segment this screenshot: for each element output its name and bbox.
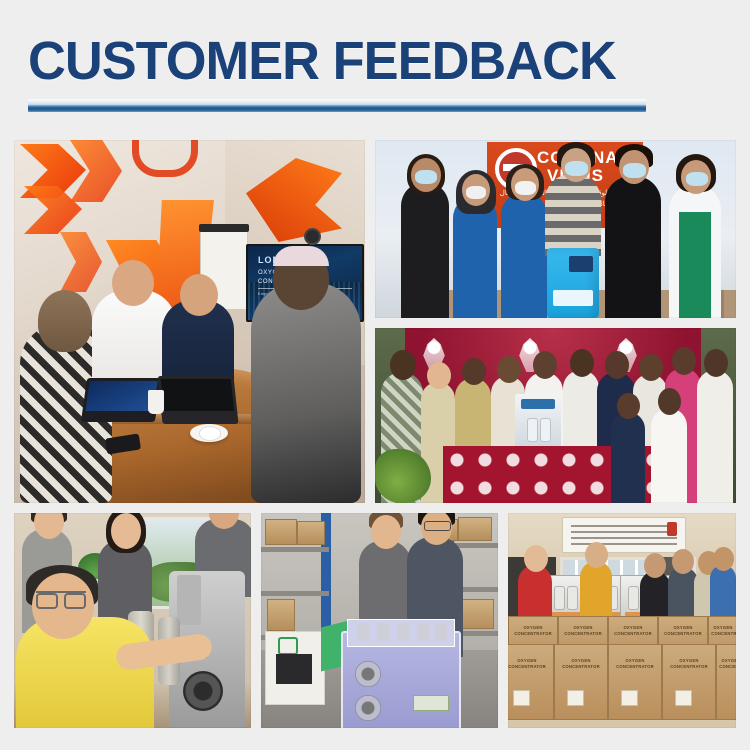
carton: OXYGENCONCENTRATOR — [716, 644, 736, 720]
person-head — [180, 274, 218, 316]
person-head — [462, 358, 486, 385]
person-head — [605, 351, 629, 379]
device-display — [569, 256, 593, 272]
person-head — [533, 351, 557, 379]
notice-text-line — [571, 531, 677, 533]
person-head — [672, 347, 696, 375]
person-head — [112, 260, 154, 306]
person-head — [672, 549, 694, 574]
person-head — [34, 513, 64, 539]
person-head — [111, 513, 141, 549]
coffee-cup-and-saucer — [190, 424, 228, 442]
carton-label: OXYGENCONCENTRATOR — [663, 625, 703, 637]
shipping-label — [567, 690, 584, 705]
cup-rim — [199, 426, 221, 441]
person-head — [497, 356, 521, 383]
device-panel — [177, 575, 201, 625]
shipping-label — [675, 690, 692, 705]
conference-camera-icon — [306, 230, 319, 243]
notice-text-line — [571, 537, 677, 539]
photo-tile-oxygen-concentrator-boxes[interactable]: OXYGENCONCENTRATOR OXYGENCONCENTRATOR OX… — [508, 513, 736, 728]
notice-text-line — [571, 543, 677, 545]
person-head — [371, 515, 401, 549]
humidifier-bottle — [567, 586, 578, 610]
white-equipment-cabinet — [265, 631, 325, 705]
face-mask — [686, 172, 708, 186]
device-label — [553, 290, 593, 306]
meeting-room-scene: LONGFIAN OXYGEN CONCENTRATOR Empower oxy… — [14, 140, 365, 503]
carton: OXYGENCONCENTRATOR — [662, 644, 716, 720]
stored-carton — [462, 599, 494, 629]
boxes-delivery-scene: OXYGENCONCENTRATOR OXYGENCONCENTRATOR OX… — [508, 513, 736, 728]
person-head — [644, 553, 666, 578]
cooling-fan — [355, 661, 381, 687]
carton-label: OXYGENCONCENTRATOR — [613, 658, 657, 670]
person-staff-3 — [501, 192, 547, 318]
carton-label: OXYGENCONCENTRATOR — [711, 625, 735, 637]
face-mask — [515, 181, 536, 195]
header: CUSTOMER FEEDBACK — [28, 32, 648, 112]
stored-carton — [458, 517, 492, 541]
person-engineer-yellow-shirt — [16, 617, 154, 728]
carton-label: OXYGENCONCENTRATOR — [613, 625, 653, 637]
humidifier-bottle — [554, 586, 565, 610]
shipping-label — [621, 690, 638, 705]
eyeglasses — [36, 591, 86, 605]
carton: OXYGENCONCENTRATOR — [554, 644, 608, 720]
person-staff-1 — [401, 182, 449, 318]
photo-tile-donation-ceremony[interactable] — [375, 328, 736, 503]
hair-band — [273, 246, 329, 266]
shipping-label — [513, 690, 530, 705]
person-attendee-2 — [580, 561, 612, 623]
device-humidifier-bottle — [527, 418, 538, 442]
wall-notice-board — [562, 517, 686, 553]
cabinet-screen — [276, 654, 312, 684]
blue-oxygen-concentrator — [547, 248, 599, 318]
person-staff-2 — [453, 196, 497, 318]
face-mask — [565, 161, 588, 176]
device-humidifier-bottle — [540, 418, 551, 442]
valve-assembly — [357, 623, 369, 641]
carton-label: OXYGENCONCENTRATOR — [559, 658, 603, 670]
notice-emblem-icon — [667, 522, 677, 536]
person-front-2 — [651, 408, 687, 503]
technician-demo-scene — [14, 513, 251, 728]
carton: OXYGENCONCENTRATOR — [508, 644, 554, 720]
carton-label: OXYGENCONCENTRATOR — [719, 658, 736, 670]
lavender-oxygen-generator — [341, 631, 461, 728]
device-display — [521, 399, 555, 409]
valve-assembly — [397, 623, 409, 641]
person-head — [38, 290, 92, 352]
person-head — [427, 362, 451, 389]
carton-label: OXYGENCONCENTRATOR — [563, 625, 603, 637]
laptop-open-dark-screen — [157, 376, 238, 424]
warehouse-scene — [261, 513, 498, 728]
person-guest-10 — [697, 370, 733, 503]
person-head — [209, 513, 239, 529]
laptop-screen — [85, 381, 157, 411]
person-head — [713, 547, 734, 571]
person-front-1 — [611, 412, 645, 503]
donation-ceremony-scene — [375, 328, 736, 503]
photo-tile-corona-virus-handover[interactable]: CORONA VIRUS اجراءات الوقاية الخاصة بوحد… — [375, 140, 736, 318]
person-head — [704, 349, 728, 377]
page-title: CUSTOMER FEEDBACK — [28, 32, 629, 90]
valve-assembly — [417, 623, 429, 641]
person-head — [524, 545, 548, 572]
flipchart-clamp — [199, 224, 249, 232]
stored-carton — [265, 519, 297, 545]
person-head — [390, 350, 416, 380]
paper-cup — [148, 390, 164, 414]
shelf-beam — [261, 591, 329, 596]
valve-assembly — [377, 623, 389, 641]
carton-stack: OXYGENCONCENTRATOR OXYGENCONCENTRATOR OX… — [508, 616, 736, 728]
stored-carton — [267, 599, 295, 631]
person-head — [617, 393, 640, 419]
face-mask — [623, 163, 646, 178]
carton: OXYGENCONCENTRATOR — [608, 644, 662, 720]
photo-tile-meeting-room[interactable]: LONGFIAN OXYGEN CONCENTRATOR Empower oxy… — [14, 140, 365, 503]
person-staff-5 — [605, 176, 661, 318]
person-staff-4 — [545, 174, 601, 256]
person-staff-6 — [669, 184, 721, 318]
title-underline-bar — [28, 99, 646, 112]
cooling-fan — [355, 695, 381, 721]
eyeglasses — [424, 521, 451, 531]
laptop-screen — [161, 379, 234, 411]
shelf-beam — [261, 547, 329, 552]
scrubs — [679, 212, 711, 318]
unit-nameplate — [413, 695, 449, 711]
brand-logo-icon — [278, 637, 298, 655]
humidifier-bottle — [628, 586, 639, 610]
person-head — [639, 354, 663, 381]
carton-label: OXYGENCONCENTRATOR — [513, 625, 553, 637]
photo-tile-warehouse-team[interactable] — [261, 513, 498, 728]
person-head — [585, 542, 608, 568]
photo-tile-technician-demo[interactable] — [14, 513, 251, 728]
person-head — [658, 388, 681, 415]
valve-assembly — [435, 623, 447, 641]
photo-gallery: LONGFIAN OXYGEN CONCENTRATOR Empower oxy… — [14, 140, 736, 728]
corona-handover-scene: CORONA VIRUS اجراءات الوقاية الخاصة بوحد… — [375, 140, 736, 318]
face-mask — [466, 186, 486, 199]
person-head — [570, 349, 594, 377]
carton-label: OXYGENCONCENTRATOR — [508, 658, 549, 670]
page-root: CUSTOMER FEEDBACK — [0, 0, 750, 750]
stored-carton — [297, 521, 325, 545]
person-foreground-right — [251, 282, 361, 503]
face-mask — [415, 170, 437, 184]
carton-label: OXYGENCONCENTRATOR — [667, 658, 711, 670]
notice-text-line — [571, 525, 677, 527]
